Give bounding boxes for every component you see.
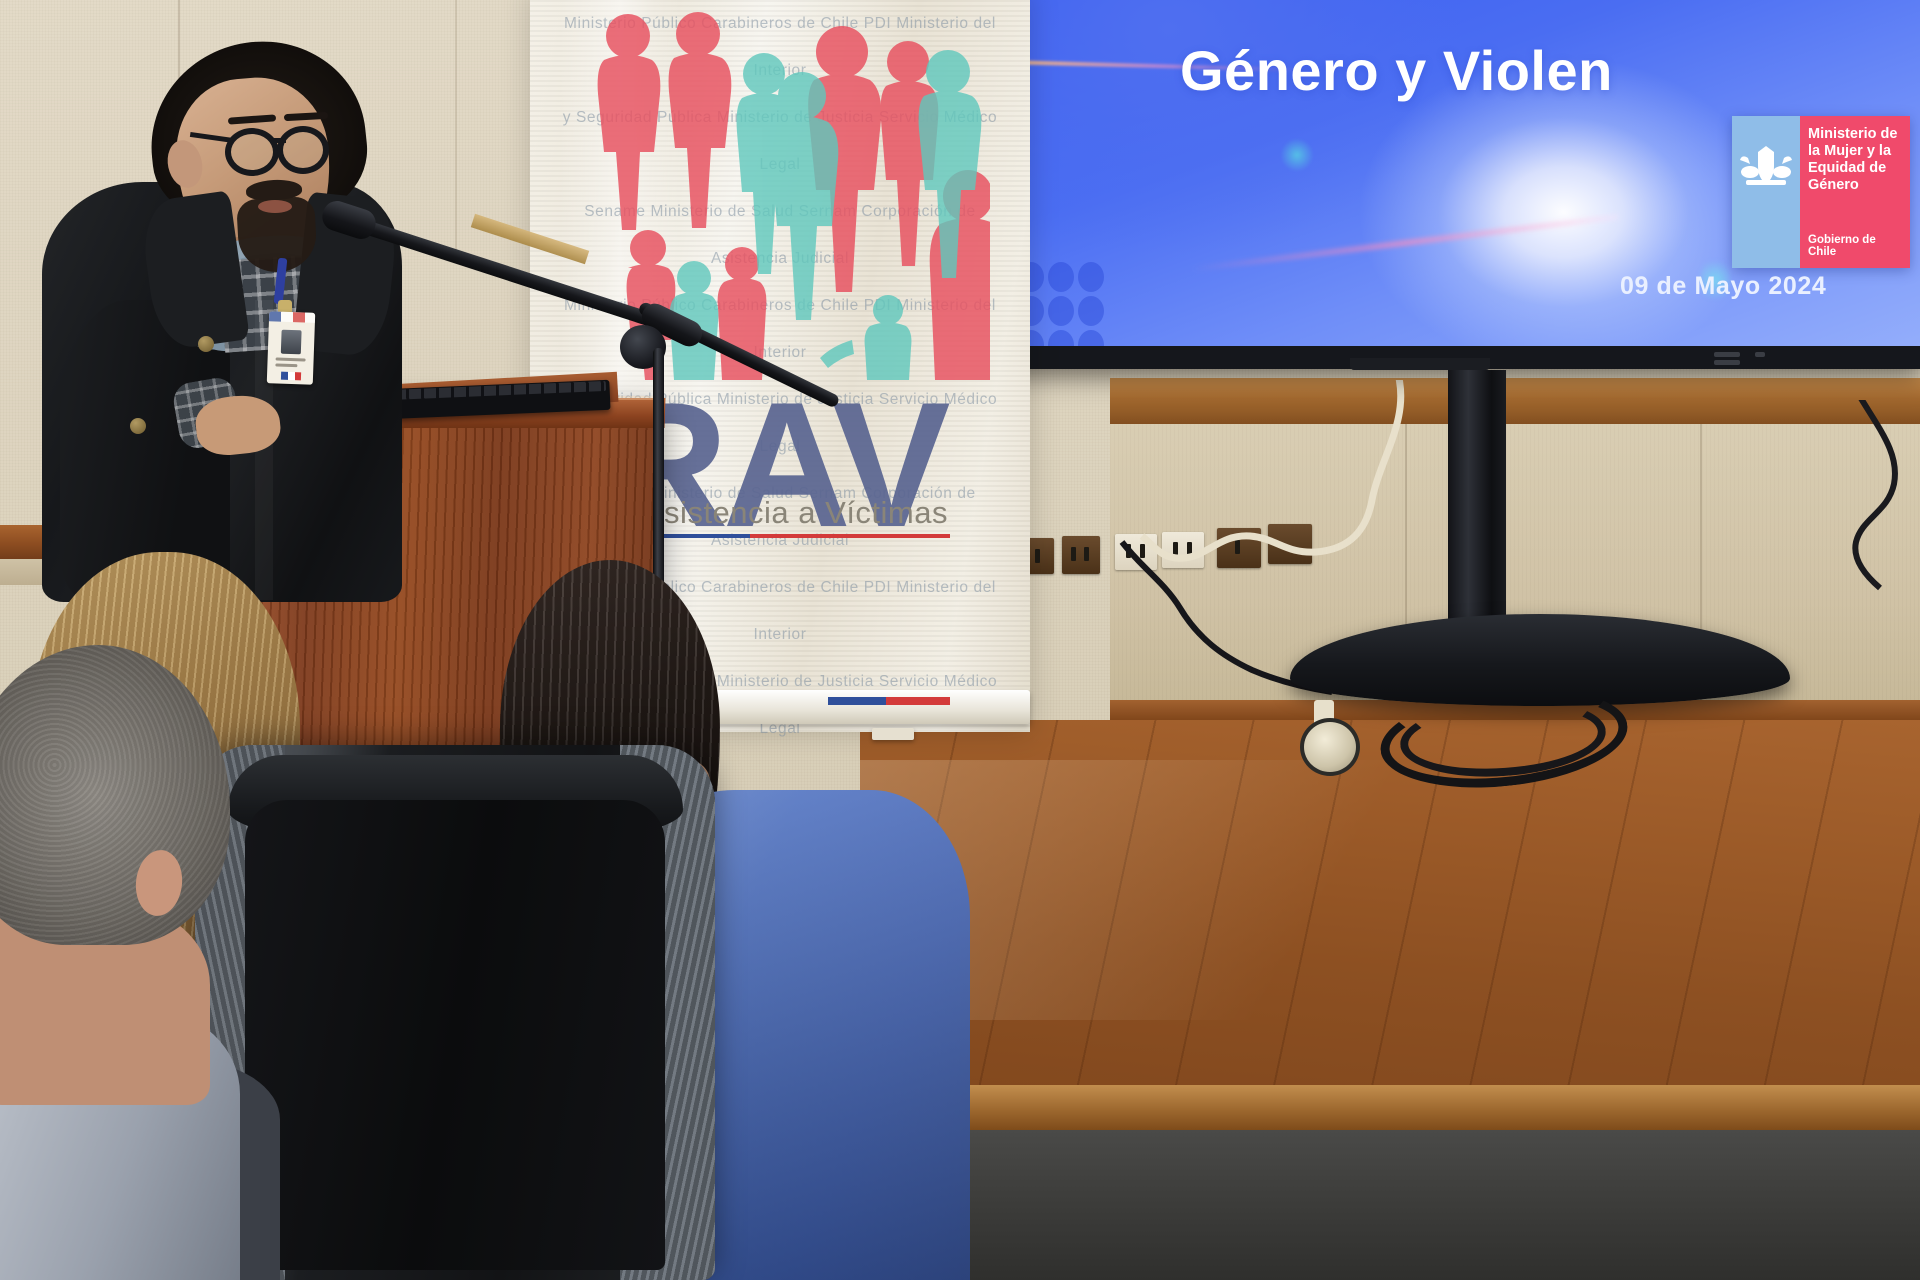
speaker-id-badge (267, 311, 315, 385)
speaker-jacket-button-2 (130, 418, 146, 434)
logo-ministry-line-2: la Mujer y la (1808, 143, 1906, 160)
logo-ministry-line-4: Género (1808, 177, 1906, 194)
badge-header-stripe (269, 311, 315, 323)
speaker-jacket-button-1 (198, 336, 214, 352)
logo-ministry-line-3: Equidad de (1808, 160, 1906, 177)
tv-port-2 (1714, 360, 1740, 365)
speaker-mouth (258, 200, 292, 213)
logo-crest-panel (1732, 116, 1800, 268)
slide-date: 09 de Mayo 2024 (1620, 272, 1826, 301)
tv-port-1 (1714, 352, 1740, 357)
logo-text-panel: Ministerio de la Mujer y la Equidad de G… (1800, 116, 1910, 268)
slide-title: Género y Violen (1180, 38, 1920, 103)
banner-base-foot-tab (872, 728, 914, 740)
banner-base-stripe-blue (828, 697, 886, 705)
badge-text-line-2 (275, 363, 297, 367)
glasses-bridge (274, 138, 286, 143)
screen-lens-flare-3 (1280, 138, 1314, 172)
badge-photo (281, 330, 302, 355)
badge-text-line-1 (276, 357, 306, 361)
tv-bezel-foot (1350, 358, 1490, 370)
stage-floor (860, 720, 1920, 1120)
microphone-stand-stem (653, 348, 664, 593)
ministry-logo: Ministerio de la Mujer y la Equidad de G… (1732, 116, 1910, 268)
logo-ministry-line-1: Ministerio de (1808, 126, 1906, 143)
wall-cable-right (1760, 400, 1920, 600)
banner-people-silhouettes (570, 10, 990, 380)
wall-seam-2 (455, 0, 457, 250)
tv-stand-pole (1448, 370, 1506, 638)
chair-backrest (245, 800, 665, 1270)
banner-base-stripe-red (886, 697, 950, 705)
tv-port-3 (1755, 352, 1765, 357)
tv-stand-caster (1300, 718, 1360, 776)
photo-scene: Género y Violen Ministerio de la Mujer y… (0, 0, 1920, 1280)
banner-rule-blue (650, 534, 750, 538)
logo-government-label: Gobierno de Chile (1808, 234, 1906, 258)
badge-flag-icon (281, 372, 301, 381)
glasses-lens-left (225, 128, 279, 176)
chile-coat-of-arms-icon (1738, 140, 1794, 192)
glasses-lens-right (277, 126, 329, 174)
